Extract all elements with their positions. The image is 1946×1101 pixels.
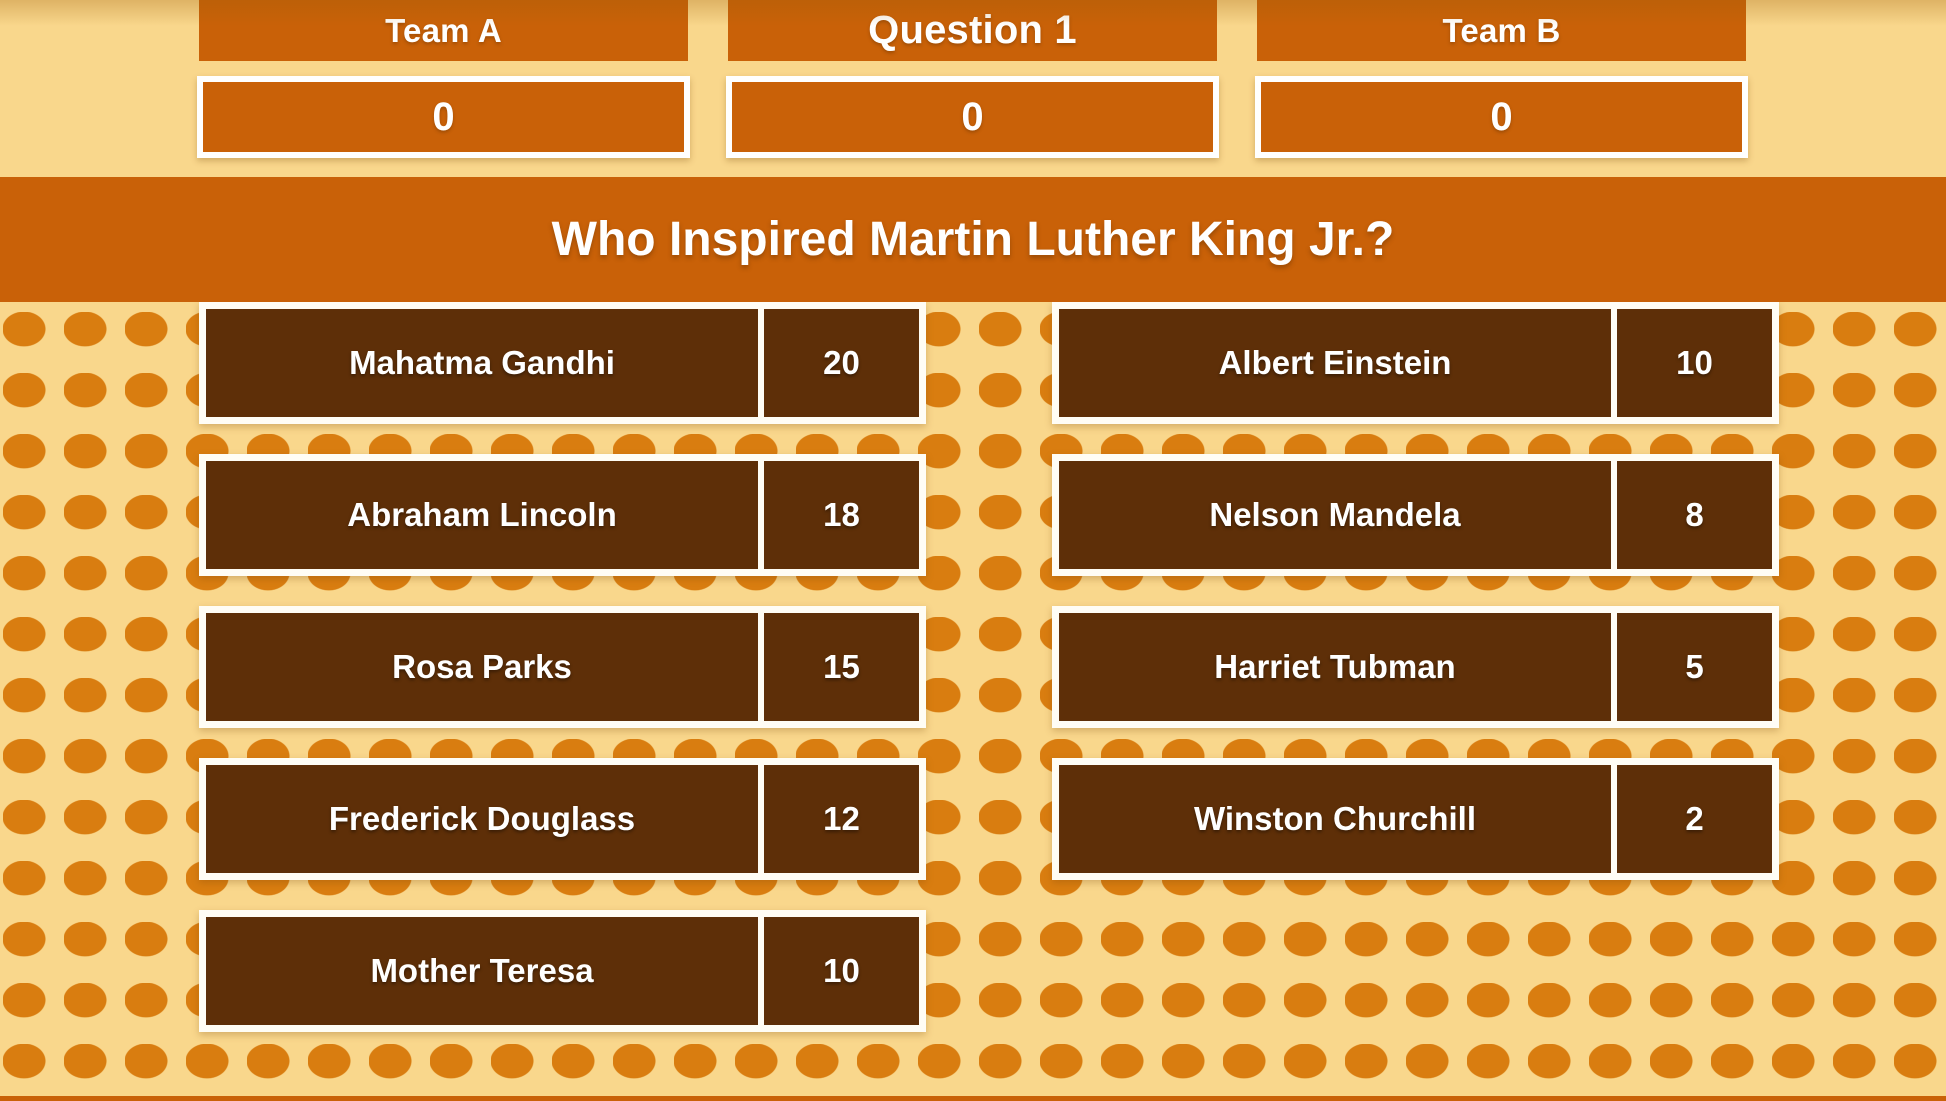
answers-board: Mahatma Gandhi 20 Abraham Lincoln 18 Ros… xyxy=(0,302,1946,1096)
answer-points: 18 xyxy=(764,461,919,569)
scoreboard: Team A Question 1 Team B 0 0 0 xyxy=(0,0,1946,177)
answer-name: Harriet Tubman xyxy=(1059,613,1611,721)
answer-row[interactable]: Frederick Douglass 12 xyxy=(199,758,926,880)
team-b-header: Team B xyxy=(1257,0,1746,61)
team-b-score-value: 0 xyxy=(1490,95,1512,140)
answer-row[interactable]: Mahatma Gandhi 20 xyxy=(199,302,926,424)
answer-name: Albert Einstein xyxy=(1059,309,1611,417)
answer-points: 2 xyxy=(1617,765,1772,873)
answer-points: 8 xyxy=(1617,461,1772,569)
answer-points: 20 xyxy=(764,309,919,417)
answer-points: 12 xyxy=(764,765,919,873)
answer-name: Winston Churchill xyxy=(1059,765,1611,873)
team-b-score-box[interactable]: 0 xyxy=(1255,76,1748,158)
question-number-label: Question 1 xyxy=(868,8,1077,53)
team-a-score-value: 0 xyxy=(432,95,454,140)
round-score-box[interactable]: 0 xyxy=(726,76,1219,158)
answer-name: Rosa Parks xyxy=(206,613,758,721)
answer-row[interactable]: Albert Einstein 10 xyxy=(1052,302,1779,424)
answer-name: Mahatma Gandhi xyxy=(206,309,758,417)
answer-row[interactable]: Abraham Lincoln 18 xyxy=(199,454,926,576)
answer-row[interactable]: Winston Churchill 2 xyxy=(1052,758,1779,880)
answer-points: 5 xyxy=(1617,613,1772,721)
game-board: Team A Question 1 Team B 0 0 0 Who Inspi… xyxy=(0,0,1946,1101)
answer-name: Mother Teresa xyxy=(206,917,758,1025)
question-banner: Who Inspired Martin Luther King Jr.? xyxy=(0,177,1946,302)
answer-row[interactable]: Harriet Tubman 5 xyxy=(1052,606,1779,728)
team-a-score-box[interactable]: 0 xyxy=(197,76,690,158)
question-text: Who Inspired Martin Luther King Jr.? xyxy=(552,212,1395,267)
answer-points: 15 xyxy=(764,613,919,721)
round-score-value: 0 xyxy=(961,95,983,140)
answer-name: Abraham Lincoln xyxy=(206,461,758,569)
answer-points: 10 xyxy=(764,917,919,1025)
team-b-label: Team B xyxy=(1443,12,1561,50)
answer-name: Nelson Mandela xyxy=(1059,461,1611,569)
team-a-label: Team A xyxy=(385,12,502,50)
answer-name: Frederick Douglass xyxy=(206,765,758,873)
answer-row[interactable]: Nelson Mandela 8 xyxy=(1052,454,1779,576)
team-a-header: Team A xyxy=(199,0,688,61)
answer-row[interactable]: Mother Teresa 10 xyxy=(199,910,926,1032)
answer-row[interactable]: Rosa Parks 15 xyxy=(199,606,926,728)
answer-points: 10 xyxy=(1617,309,1772,417)
question-number-header: Question 1 xyxy=(728,0,1217,61)
